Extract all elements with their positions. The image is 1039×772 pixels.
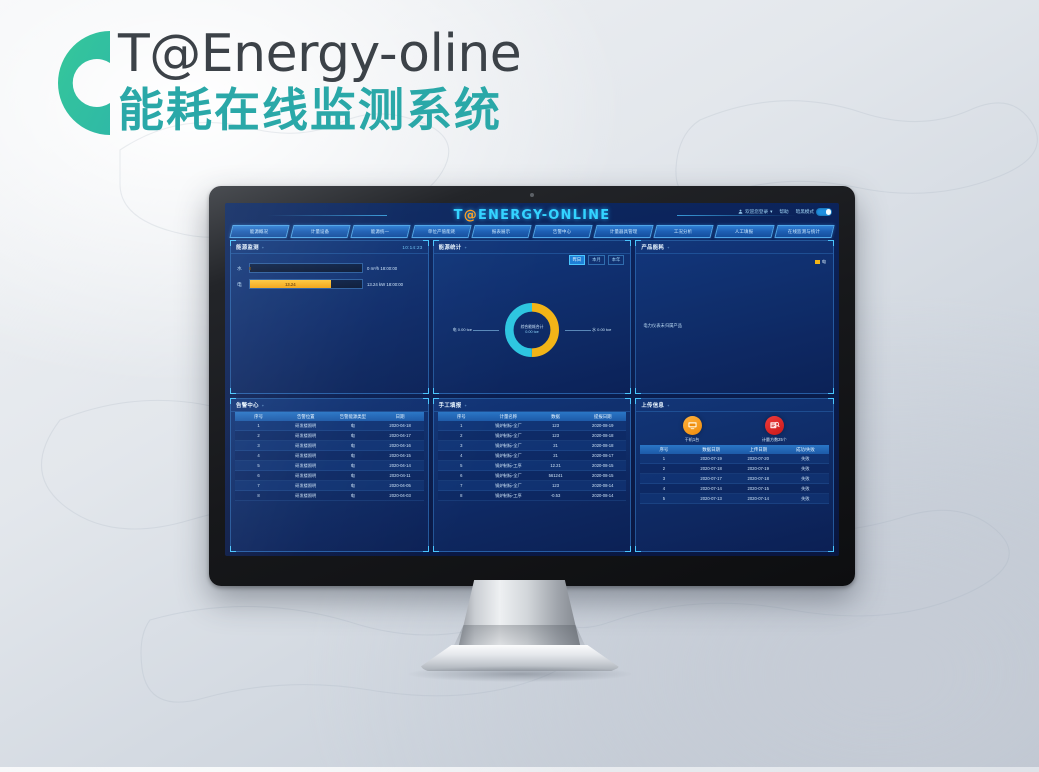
dark-mode-control[interactable]: 暗黑模式 [796, 208, 832, 216]
upload-stat-gateway[interactable]: 干机1台 [683, 416, 702, 443]
webcam-icon [530, 193, 534, 197]
upload-stat-caption: 干机1台 [685, 437, 700, 443]
table-cell: 2020-07-14 [688, 484, 735, 494]
legend-label-electric: 电 [822, 259, 826, 265]
table-row[interactable]: 2研发楼照明电2020-04-17 [235, 431, 424, 441]
nav-item-5[interactable]: 告警中心 [532, 225, 592, 238]
table-column-header: 日期 [376, 412, 423, 421]
app-title-at-icon: @ [464, 208, 478, 223]
table-cell: 失败 [782, 464, 829, 474]
brand-header: T@Energy-oline 能耗在线监测系统 [52, 22, 612, 150]
table-cell: 研发楼照明 [282, 421, 329, 431]
panel-energy-monitor: 能源监测 + 10:14:23 水 0 0 m³/h 18:00:00 [230, 240, 429, 394]
expand-icon[interactable]: + [262, 245, 264, 250]
table-cell: 失败 [782, 484, 829, 494]
table-cell: 2020-07-14 [735, 494, 782, 504]
table-column-header: 序号 [438, 412, 485, 421]
manual-table-wrap[interactable]: 序号计量名称数据提报日期 1锅炉制标-全厂1232020-08-192锅炉制标-… [438, 412, 627, 551]
nav-label: 工况分析 [674, 229, 692, 235]
nav-item-7[interactable]: 工况分析 [654, 225, 714, 238]
table-cell: 研发楼照明 [282, 441, 329, 451]
table-cell: 2020-08-14 [579, 491, 626, 501]
table-cell: 锅炉制标-全厂 [485, 451, 532, 461]
table-cell: 研发楼照明 [282, 461, 329, 471]
table-cell: 电 [329, 491, 376, 501]
table-cell: 失败 [782, 474, 829, 484]
table-row[interactable]: 2锅炉制标-全厂1232020-08-18 [438, 431, 627, 441]
donut-label-electric: 电 0.00 tce [453, 327, 472, 333]
meter-row-electric: 电 13.24 13.24 kW 18:00:00 [237, 279, 422, 289]
donut-center-value: 0.00 tce [525, 330, 539, 335]
table-cell: 锅炉制标-全厂 [485, 421, 532, 431]
dark-mode-label: 暗黑模式 [796, 209, 814, 215]
table-cell: 5 [235, 461, 282, 471]
dashboard-row-bottom: 告警中心 + 序号告警位置告警能源类型日期 1研发楼照明电2020-04-182… [230, 398, 834, 552]
legend-swatch-electric [815, 260, 820, 263]
table-row[interactable]: 3研发楼照明电2020-04-16 [235, 441, 424, 451]
table-cell: 2020-04-16 [376, 441, 423, 451]
table-cell: 21 [532, 441, 579, 451]
panel-manual-entry: 手工填报 + 序号计量名称数据提报日期 1锅炉制标-全厂1232020-08-1… [433, 398, 632, 552]
expand-icon[interactable]: + [464, 245, 466, 250]
table-cell: 2020-04-18 [376, 421, 423, 431]
table-cell: 8 [235, 491, 282, 501]
table-column-header: 序号 [640, 445, 687, 454]
table-row[interactable]: 5研发楼照明电2020-04-14 [235, 461, 424, 471]
table-cell: 电 [329, 451, 376, 461]
table-row[interactable]: 1锅炉制标-全厂1232020-08-19 [438, 421, 627, 431]
user-menu[interactable]: 欢迎您登录 ▾ [738, 209, 772, 215]
table-cell: 21 [532, 451, 579, 461]
table-cell: 2020-08-18 [579, 431, 626, 441]
nav-item-1[interactable]: 计量设备 [290, 225, 350, 238]
nav-label: 能源概况 [250, 229, 268, 235]
panel-header: 手工填报 + [434, 399, 631, 412]
donut-label-water: 水 0.00 tce [592, 327, 611, 333]
table-row[interactable]: 12020-07-192020-07-20失败 [640, 454, 829, 464]
table-cell: 电 [329, 421, 376, 431]
upload-info-table: 序号数据日期上传日期成功/失败 12020-07-192020-07-20失败2… [640, 445, 829, 504]
meter-meta: 13.24 kW 18:00:00 [367, 282, 403, 287]
table-column-header: 数据 [532, 412, 579, 421]
table-cell: 2020-04-15 [376, 451, 423, 461]
table-cell: 锅炉制标-全厂 [485, 481, 532, 491]
upload-stat-caption: 计量方数25个 [762, 437, 787, 443]
manual-entry-table: 序号计量名称数据提报日期 1锅炉制标-全厂1232020-08-192锅炉制标-… [438, 412, 627, 501]
table-cell: 2020-04-03 [376, 491, 423, 501]
table-row[interactable]: 1研发楼照明电2020-04-18 [235, 421, 424, 431]
table-header-row: 序号告警位置告警能源类型日期 [235, 412, 424, 421]
table-column-header: 成功/失败 [782, 445, 829, 454]
table-cell: 2 [235, 431, 282, 441]
nav-item-3[interactable]: 单位产值能耗 [411, 225, 471, 238]
table-cell: 561241 [532, 471, 579, 481]
table-cell: 5 [438, 461, 485, 471]
table-cell: 2020-04-17 [376, 431, 423, 441]
table-cell: 2020-07-15 [735, 484, 782, 494]
table-header-row: 序号计量名称数据提报日期 [438, 412, 627, 421]
panel-header: 告警中心 + [231, 399, 428, 412]
meter-label: 电 [237, 281, 245, 288]
meter-value: 0 [249, 266, 251, 271]
table-cell: 电 [329, 441, 376, 451]
panel-title: 产品能耗 [641, 243, 664, 251]
table-row[interactable]: 7研发楼照明电2020-04-05 [235, 481, 424, 491]
table-cell: 6 [438, 471, 485, 481]
help-link[interactable]: 帮助 [779, 209, 788, 215]
panel-title: 能源统计 [439, 243, 462, 251]
table-column-header: 上传日期 [735, 445, 782, 454]
upload-stat-meters[interactable]: 计量方数25个 [762, 416, 787, 443]
table-cell: 2 [438, 431, 485, 441]
table-column-header: 数据日期 [688, 445, 735, 454]
donut-center: 综合能耗合计 0.00 tce [502, 300, 562, 360]
dashboard-grid: 能源监测 + 10:14:23 水 0 0 m³/h 18:00:00 [230, 240, 834, 552]
table-cell: 2020-08-15 [579, 461, 626, 471]
monitor-bezel: T@ENERGY-ONLINE 欢迎您登录 ▾ 帮助 暗黑模式 能源概况 [209, 186, 855, 586]
meter-bar-fill: 13.24 [250, 280, 331, 288]
table-cell: 锅炉制标-全厂 [485, 471, 532, 481]
panel-product-energy: 产品能耗 + 电 电力仪表未归属产品 [635, 240, 834, 394]
upload-stats: 干机1台 计量方数25个 [642, 413, 827, 443]
panel-body: 电 电力仪表未归属产品 [636, 253, 833, 393]
nav-label: 人工填报 [735, 229, 753, 235]
monitor: T@ENERGY-ONLINE 欢迎您登录 ▾ 帮助 暗黑模式 能源概况 [209, 186, 855, 586]
meter-value: 13.24 [285, 282, 295, 287]
table-cell: 2020-07-13 [688, 494, 735, 504]
gateway-icon [683, 416, 702, 435]
tab-year[interactable]: 本年 [608, 255, 625, 265]
nav-item-6[interactable]: 计量器具管理 [593, 225, 653, 238]
upload-table-wrap[interactable]: 序号数据日期上传日期成功/失败 12020-07-192020-07-20失败2… [640, 445, 829, 550]
nav-item-9[interactable]: 在线监测与统计 [775, 225, 835, 238]
table-cell: 4 [438, 451, 485, 461]
meter-bar-track: 0 [249, 263, 363, 273]
nav-label: 告警中心 [553, 229, 571, 235]
panel-upload-info: 上传信息 + 干机1台 [635, 398, 834, 552]
table-cell: 12.21 [532, 461, 579, 471]
nav-label: 计量器具管理 [609, 229, 637, 235]
expand-icon[interactable]: + [262, 403, 264, 408]
table-cell: 研发楼照明 [282, 471, 329, 481]
clock-label: 10:14:23 [402, 245, 422, 250]
table-cell: 锅炉制标-全厂 [485, 441, 532, 451]
meter-search-icon [765, 416, 784, 435]
table-cell: 电 [329, 481, 376, 491]
table-row[interactable]: 4研发楼照明电2020-04-15 [235, 451, 424, 461]
period-tabs: 昨日 本月 本年 [569, 255, 625, 265]
table-row[interactable]: 32020-07-172020-07-18失败 [640, 474, 829, 484]
nav-label: 在线监测与统计 [789, 229, 821, 235]
panel-title: 能源监测 [236, 243, 259, 251]
leader-line-right [565, 330, 591, 331]
table-cell: 锅炉制标-工序 [485, 461, 532, 471]
table-cell: 123 [532, 421, 579, 431]
table-cell: 研发楼照明 [282, 491, 329, 501]
dark-mode-toggle[interactable] [816, 208, 832, 216]
table-row[interactable]: 3锅炉制标-全厂212020-08-18 [438, 441, 627, 451]
user-label: 欢迎您登录 [745, 209, 768, 215]
table-cell: 2020-08-15 [579, 471, 626, 481]
panel-energy-stats: 能源统计 + 昨日 本月 本年 [433, 240, 632, 394]
donut-chart-wrap: 综合能耗合计 0.00 tce 电 0.00 tce 水 0.00 tce [434, 269, 631, 391]
meter-meta: 0 m³/h 18:00:00 [367, 266, 397, 271]
table-cell: 2020-08-19 [579, 421, 626, 431]
panel-body: 昨日 本月 本年 [434, 253, 631, 393]
panel-title: 告警中心 [236, 401, 259, 409]
table-cell: 3 [640, 474, 687, 484]
table-cell: 电 [329, 431, 376, 441]
table-row[interactable]: 52020-07-132020-07-14失败 [640, 494, 829, 504]
legend: 电 [815, 259, 826, 265]
table-column-header: 提报日期 [579, 412, 626, 421]
tab-month[interactable]: 本月 [588, 255, 605, 265]
brand-cn-title: 能耗在线监测系统 [118, 83, 521, 138]
dashboard-row-top: 能源监测 + 10:14:23 水 0 0 m³/h 18:00:00 [230, 240, 834, 394]
expand-icon[interactable]: + [667, 245, 669, 250]
leader-line-left [473, 330, 499, 331]
table-cell: 研发楼照明 [282, 481, 329, 491]
panel-title: 上传信息 [641, 401, 664, 409]
expand-icon[interactable]: + [464, 403, 466, 408]
table-cell: 锅炉制标-全厂 [485, 431, 532, 441]
table-cell: 5 [640, 494, 687, 504]
user-icon [738, 209, 743, 214]
table-cell: 2020-04-05 [376, 481, 423, 491]
nav-label: 报表展示 [492, 229, 510, 235]
table-cell: 2020-07-18 [735, 474, 782, 484]
c-mark-logo-icon [52, 25, 122, 141]
table-cell: 2020-07-20 [735, 454, 782, 464]
help-label: 帮助 [779, 209, 788, 215]
table-cell: 2020-08-14 [579, 481, 626, 491]
nav-item-2[interactable]: 能源统一 [351, 225, 411, 238]
table-row[interactable]: 6研发楼照明电2020-04-11 [235, 471, 424, 481]
table-row[interactable]: 4锅炉制标-全厂212020-08-17 [438, 451, 627, 461]
table-cell: 7 [438, 481, 485, 491]
table-column-header: 告警位置 [282, 412, 329, 421]
table-row[interactable]: 8锅炉制标-工序-0.532020-08-14 [438, 491, 627, 501]
meter-bar-track: 13.24 [249, 279, 363, 289]
panel-body: 水 0 0 m³/h 18:00:00 电 13.24 [231, 253, 428, 393]
table-cell: 3 [438, 441, 485, 451]
brand-en-title: T@Energy-oline [118, 22, 521, 87]
table-cell: 2020-04-14 [376, 461, 423, 471]
empty-state-note: 电力仪表未归属产品 [643, 323, 682, 329]
table-row[interactable]: 7锅炉制标-全厂1232020-08-14 [438, 481, 627, 491]
nav-label: 计量设备 [311, 229, 329, 235]
nav-item-8[interactable]: 人工填报 [714, 225, 774, 238]
donut-chart: 综合能耗合计 0.00 tce 电 0.00 tce 水 0.00 tce [502, 300, 562, 360]
table-cell: 电 [329, 461, 376, 471]
table-cell: 2020-07-17 [688, 474, 735, 484]
meter-label: 水 [237, 265, 245, 272]
monitor-base-shadow [408, 666, 632, 682]
table-cell: 3 [235, 441, 282, 451]
table-cell: 电 [329, 471, 376, 481]
chevron-down-icon: ▾ [770, 209, 772, 215]
panel-title: 手工填报 [439, 401, 462, 409]
table-column-header: 计量名称 [485, 412, 532, 421]
table-cell: 失败 [782, 454, 829, 464]
table-cell: 2 [640, 464, 687, 474]
table-cell: 1 [640, 454, 687, 464]
table-row[interactable]: 6锅炉制标-全厂5612412020-08-15 [438, 471, 627, 481]
screen: T@ENERGY-ONLINE 欢迎您登录 ▾ 帮助 暗黑模式 能源概况 [225, 203, 839, 556]
table-cell: 123 [532, 431, 579, 441]
table-cell: 2020-04-11 [376, 471, 423, 481]
table-header-row: 序号数据日期上传日期成功/失败 [640, 445, 829, 454]
nav-item-4[interactable]: 报表展示 [472, 225, 532, 238]
expand-icon[interactable]: + [667, 403, 669, 408]
table-cell: 2020-07-18 [688, 464, 735, 474]
table-column-header: 告警能源类型 [329, 412, 376, 421]
meter-row-water: 水 0 0 m³/h 18:00:00 [237, 263, 422, 273]
table-cell: 2020-07-19 [735, 464, 782, 474]
alarm-table: 序号告警位置告警能源类型日期 1研发楼照明电2020-04-182研发楼照明电2… [235, 412, 424, 501]
app-title-rest: ENERGY-ONLINE [478, 208, 610, 223]
app-title-t: T [454, 208, 464, 223]
table-row[interactable]: 5锅炉制标-工序12.212020-08-15 [438, 461, 627, 471]
table-cell: 研发楼照明 [282, 431, 329, 441]
nav-label: 单位产值能耗 [427, 229, 455, 235]
nav-label: 能源统一 [371, 229, 389, 235]
table-cell: 锅炉制标-工序 [485, 491, 532, 501]
table-row[interactable]: 8研发楼照明电2020-04-03 [235, 491, 424, 501]
table-cell: 2020-07-19 [688, 454, 735, 464]
panel-alarm-center: 告警中心 + 序号告警位置告警能源类型日期 1研发楼照明电2020-04-182… [230, 398, 429, 552]
alarm-table-wrap[interactable]: 序号告警位置告警能源类型日期 1研发楼照明电2020-04-182研发楼照明电2… [235, 412, 424, 551]
table-cell: 7 [235, 481, 282, 491]
main-nav: 能源概况 计量设备 能源统一 单位产值能耗 报表展示 告警中心 计量器具管理 工… [231, 225, 833, 238]
table-row[interactable]: 42020-07-142020-07-15失败 [640, 484, 829, 494]
tab-yesterday[interactable]: 昨日 [569, 255, 586, 265]
table-cell: 4 [235, 451, 282, 461]
table-cell: -0.53 [532, 491, 579, 501]
user-bar: 欢迎您登录 ▾ 帮助 暗黑模式 [738, 208, 832, 216]
table-cell: 8 [438, 491, 485, 501]
nav-item-0[interactable]: 能源概况 [229, 225, 289, 238]
table-column-header: 序号 [235, 412, 282, 421]
table-cell: 2020-08-17 [579, 451, 626, 461]
table-cell: 2020-08-18 [579, 441, 626, 451]
table-cell: 1 [438, 421, 485, 431]
table-cell: 123 [532, 481, 579, 491]
table-row[interactable]: 22020-07-182020-07-19失败 [640, 464, 829, 474]
table-cell: 6 [235, 471, 282, 481]
table-cell: 研发楼照明 [282, 451, 329, 461]
table-cell: 失败 [782, 494, 829, 504]
table-cell: 1 [235, 421, 282, 431]
table-cell: 4 [640, 484, 687, 494]
